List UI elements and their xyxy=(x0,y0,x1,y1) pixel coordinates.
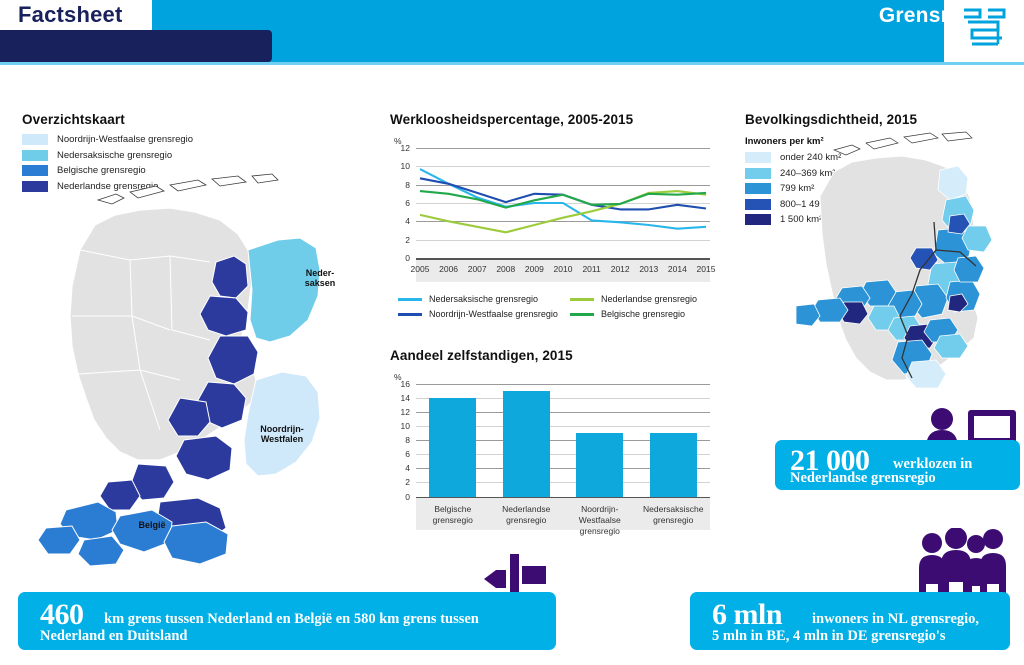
x-tick-2015: 2015 xyxy=(690,264,722,274)
density-map xyxy=(790,130,1024,390)
callout-unemployed-text2: Nederlandse grensregio xyxy=(790,470,936,487)
bars-layer xyxy=(390,384,720,498)
bar-category-label-line: grensregio xyxy=(637,515,711,526)
callout-inhabitants-text2: 5 mln in BE, 4 mln in DE grensregio's xyxy=(712,628,946,645)
callout-border-length-text: km grens tussen Nederland en België en 5… xyxy=(104,611,479,628)
bar-1 xyxy=(503,391,550,496)
bar-category-label-3: Nedersaksischegrensregio xyxy=(637,504,711,526)
line-legend-nrw: Noordrijn-Westfaalse grensregio xyxy=(398,309,558,319)
line-chart-plot xyxy=(390,148,720,263)
line-legend-belgische: Belgische grensregio xyxy=(570,309,685,319)
density-map-title: Bevolkingsdichtheid, 2015 xyxy=(745,112,917,127)
bar-chart: 16 14 12 10 8 6 4 2 0 Belgischegrensregi… xyxy=(390,384,720,534)
bar-category-label-line: Nedersaksische xyxy=(637,504,711,515)
factsheet-label: Factsheet xyxy=(18,2,123,28)
line-legend-label-nedersaksisch: Nedersaksische grensregio xyxy=(429,294,538,304)
bar-2 xyxy=(576,433,623,496)
svg-text:saksen: saksen xyxy=(305,278,336,288)
line-series-0 xyxy=(420,169,706,229)
bar-category-label-2: Noordrijn-Westfaalsegrensregio xyxy=(563,504,637,537)
line-chart-title: Werkloosheidspercentage, 2005-2015 xyxy=(390,112,633,127)
bar-category-label-line: Belgische xyxy=(416,504,490,515)
x-tick-2008: 2008 xyxy=(490,264,522,274)
line-series-3 xyxy=(420,191,706,208)
x-tick-2014: 2014 xyxy=(661,264,693,274)
x-tick-2010: 2010 xyxy=(547,264,579,274)
bar-0 xyxy=(429,398,476,496)
x-tick-2005: 2005 xyxy=(404,264,436,274)
bar-category-label-line: grensregio xyxy=(490,515,564,526)
x-tick-2006: 2006 xyxy=(433,264,465,274)
bar-category-label-line: Noordrijn-Westfaalse xyxy=(563,504,637,526)
line-legend-swatch-belgische xyxy=(570,313,594,316)
line-chart-x-labels: 2005200620072008200920102011201220132014… xyxy=(390,262,720,282)
x-tick-2009: 2009 xyxy=(518,264,550,274)
overview-map-title: Overzichtskaart xyxy=(22,112,125,127)
svg-text:Westfalen: Westfalen xyxy=(261,434,303,444)
density-legend-swatch-4 xyxy=(745,199,771,210)
line-legend-nedersaksisch: Nedersaksische grensregio xyxy=(398,294,538,304)
callout-inhabitants-text: inwoners in NL grensregio, xyxy=(812,611,979,628)
bar-category-label-0: Belgischegrensregio xyxy=(416,504,490,526)
bar-category-label-line: grensregio xyxy=(563,526,637,537)
cbs-logo xyxy=(958,6,1012,48)
bar-3 xyxy=(650,433,697,496)
density-legend-swatch-3 xyxy=(745,183,771,194)
svg-text:Neder-: Neder- xyxy=(306,268,335,278)
bar-category-label-line: grensregio xyxy=(416,515,490,526)
line-legend-label-nrw: Noordrijn-Westfaalse grensregio xyxy=(429,309,558,319)
bar-category-label-1: Nederlandsegrensregio xyxy=(490,504,564,526)
svg-text:Noordrijn-: Noordrijn- xyxy=(260,424,304,434)
line-legend-label-belgische: Belgische grensregio xyxy=(601,309,685,319)
line-legend-swatch-nrw xyxy=(398,313,422,316)
density-legend-swatch-2 xyxy=(745,168,771,179)
line-legend-swatch-nederlandse xyxy=(570,298,594,301)
line-legend-label-nederlandse: Nederlandse grensregio xyxy=(601,294,697,304)
line-legend-nederlandse: Nederlandse grensregio xyxy=(570,294,697,304)
x-tick-2012: 2012 xyxy=(604,264,636,274)
callout-border-length-value: 460 xyxy=(40,598,84,632)
bar-chart-title: Aandeel zelfstandigen, 2015 xyxy=(390,348,573,363)
x-tick-2013: 2013 xyxy=(633,264,665,274)
x-tick-2007: 2007 xyxy=(461,264,493,274)
line-legend-swatch-nedersaksisch xyxy=(398,298,422,301)
x-tick-2011: 2011 xyxy=(576,264,608,274)
bar-category-label-line: Nederlandse xyxy=(490,504,564,515)
overview-map: Neder- saksen Noordrijn- Westfalen Belgi… xyxy=(20,130,350,570)
density-legend-swatch-1 xyxy=(745,152,771,163)
bar-category-labels: BelgischegrensregioNederlandsegrensregio… xyxy=(390,498,720,530)
svg-text:België: België xyxy=(138,520,165,530)
callout-border-length-text2: Nederland en Duitsland xyxy=(40,628,187,645)
page-title-bar xyxy=(0,30,272,62)
callout-inhabitants-value: 6 mln xyxy=(712,598,782,632)
density-legend-swatch-5 xyxy=(745,214,771,225)
